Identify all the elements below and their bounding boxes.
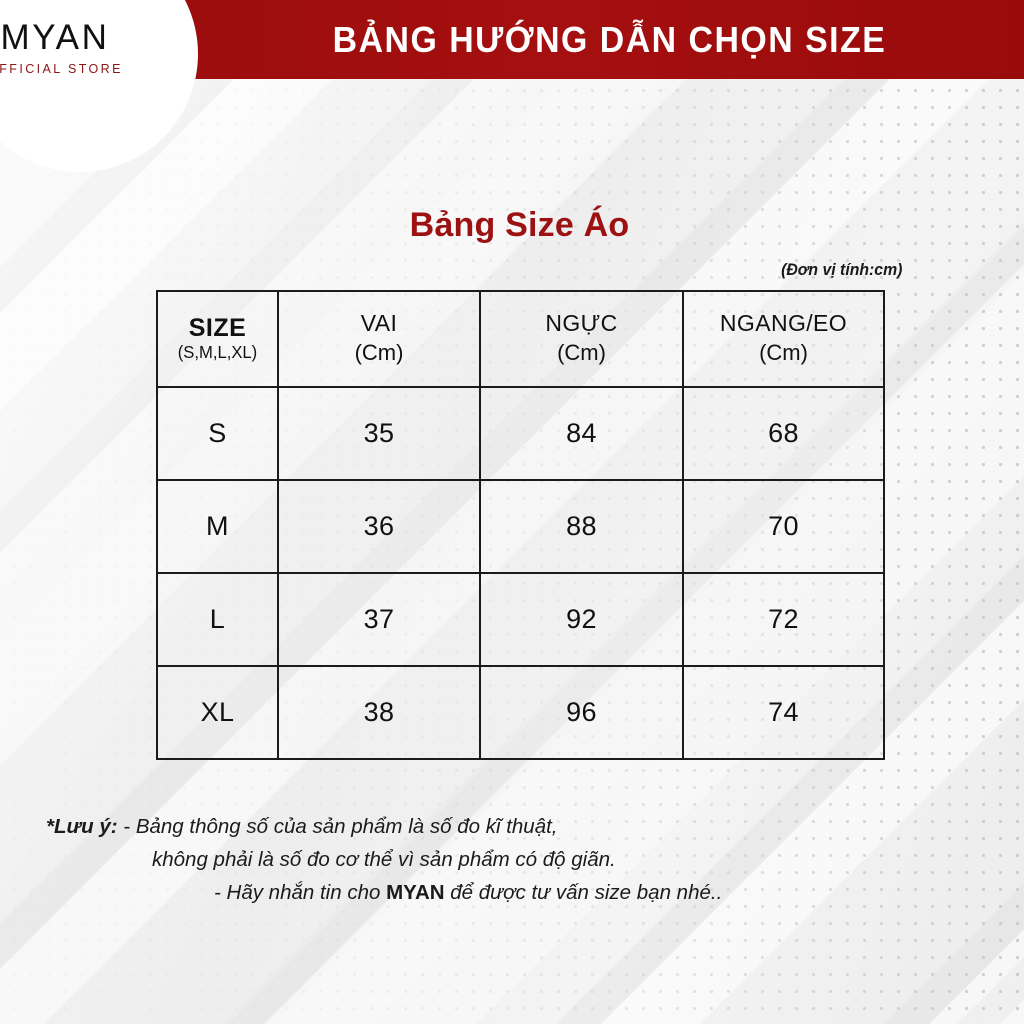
footer-notes: *Lưu ý: - Bảng thông số của sản phẩm là …	[46, 810, 946, 910]
cell-vai: 37	[278, 573, 480, 666]
cell-ngang-eo: 70	[683, 480, 884, 573]
column-header-vai-sub: (Cm)	[279, 338, 479, 368]
column-header-vai-main: VAI	[279, 310, 479, 338]
column-header-vai: VAI (Cm)	[278, 291, 480, 387]
column-header-size: SIZE (S,M,L,XL)	[157, 291, 278, 387]
cell-ngang-eo: 72	[683, 573, 884, 666]
table-row: XL 38 96 74	[157, 666, 884, 759]
cell-nguc: 92	[480, 573, 683, 666]
column-header-nguc: NGỰC (Cm)	[480, 291, 683, 387]
cell-size: XL	[157, 666, 278, 759]
cell-size: S	[157, 387, 278, 480]
cell-ngang-eo: 74	[683, 666, 884, 759]
size-table: SIZE (S,M,L,XL) VAI (Cm) NGỰC (Cm) NGANG…	[156, 290, 885, 760]
column-header-nguc-main: NGỰC	[481, 310, 682, 338]
cell-nguc: 84	[480, 387, 683, 480]
column-header-size-sub: (S,M,L,XL)	[161, 342, 274, 364]
note-lead: *Lưu ý:	[46, 815, 118, 838]
note-text-3-post: để được tư vấn size bạn nhé..	[445, 881, 723, 904]
table-row: L 37 92 72	[157, 573, 884, 666]
header-title: BẢNG HƯỚNG DẪN CHỌN SIZE	[229, 0, 989, 79]
cell-nguc: 96	[480, 666, 683, 759]
note-text-1: - Bảng thông số của sản phẩm là số đo kĩ…	[123, 815, 557, 838]
cell-size: L	[157, 573, 278, 666]
page-title: Bảng Size Áo	[156, 206, 883, 245]
logo: MYAN OFFICIAL STORE	[0, 20, 148, 76]
logo-subtitle: OFFICIAL STORE	[0, 63, 148, 76]
cell-vai: 35	[278, 387, 480, 480]
cell-vai: 36	[278, 480, 480, 573]
column-header-ngang-eo-main: NGANG/EO	[684, 310, 883, 338]
note-line-1: *Lưu ý: - Bảng thông số của sản phẩm là …	[46, 810, 946, 843]
table-row: M 36 88 70	[157, 480, 884, 573]
column-header-size-main: SIZE	[158, 314, 277, 342]
column-header-ngang-eo-sub: (Cm)	[684, 338, 883, 368]
note-line-2: không phải là số đo cơ thể vì sản phẩm c…	[46, 843, 946, 876]
cell-vai: 38	[278, 666, 480, 759]
column-header-ngang-eo: NGANG/EO (Cm)	[683, 291, 884, 387]
column-header-nguc-sub: (Cm)	[481, 338, 682, 368]
note-text-3-pre: - Hãy nhắn tin cho	[214, 881, 386, 904]
cell-nguc: 88	[480, 480, 683, 573]
size-guide-page: BẢNG HƯỚNG DẪN CHỌN SIZE MYAN OFFICIAL S…	[0, 0, 1024, 1024]
logo-wordmark: MYAN	[0, 20, 148, 55]
unit-note: (Đơn vị tính:cm)	[781, 260, 902, 280]
cell-size: M	[157, 480, 278, 573]
table-row: S 35 84 68	[157, 387, 884, 480]
cell-ngang-eo: 68	[683, 387, 884, 480]
note-text-2: không phải là số đo cơ thể vì sản phẩm c…	[152, 848, 616, 871]
note-line-3: - Hãy nhắn tin cho MYAN để được tư vấn s…	[46, 876, 946, 909]
table-header-row: SIZE (S,M,L,XL) VAI (Cm) NGỰC (Cm) NGANG…	[157, 291, 884, 387]
note-brand: MYAN	[386, 881, 444, 904]
